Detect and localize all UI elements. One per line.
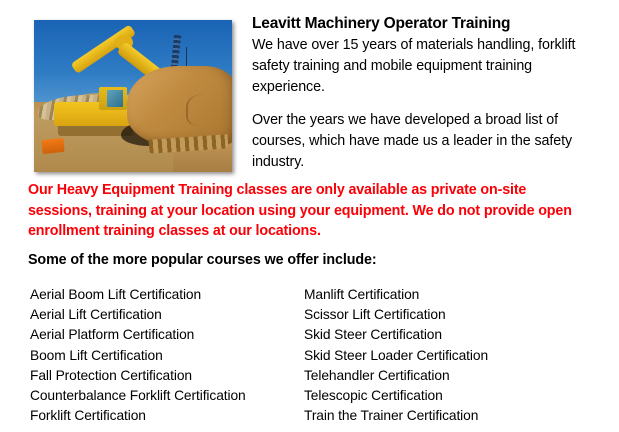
courses-column-right: Manlift Certification Scissor Lift Certi… xyxy=(304,285,604,426)
intro-paragraph-1: We have over 15 years of materials handl… xyxy=(252,35,607,98)
excavator-bucket xyxy=(127,66,232,145)
list-item: Boom Lift Certification xyxy=(30,346,300,366)
list-item: Manlift Certification xyxy=(304,285,604,305)
excavator-photo xyxy=(34,20,232,172)
intro-section: Leavitt Machinery Operator Training We h… xyxy=(0,0,619,178)
list-item: Forklift Certification xyxy=(30,406,300,426)
list-item: Fall Protection Certification xyxy=(30,366,300,386)
list-item: Train the Trainer Certification xyxy=(304,406,604,426)
excavator-cab-window xyxy=(107,90,123,107)
list-item: Skid Steer Loader Certification xyxy=(304,346,604,366)
intro-text-block: Leavitt Machinery Operator Training We h… xyxy=(252,14,607,173)
orange-marker-box xyxy=(41,137,64,153)
list-item: Scissor Lift Certification xyxy=(304,305,604,325)
courses-heading: Some of the more popular courses we offe… xyxy=(28,252,377,268)
list-item: Telehandler Certification xyxy=(304,366,604,386)
list-item: Telescopic Certification xyxy=(304,386,604,406)
list-item: Aerial Lift Certification xyxy=(30,305,300,325)
page-root: Leavitt Machinery Operator Training We h… xyxy=(0,0,619,432)
excavator-photo-canvas xyxy=(34,20,232,172)
courses-column-left: Aerial Boom Lift Certification Aerial Li… xyxy=(30,285,300,426)
bucket-rib xyxy=(186,94,230,126)
list-item: Skid Steer Certification xyxy=(304,325,604,345)
intro-paragraph-2: Over the years we have developed a broad… xyxy=(252,110,607,173)
list-item: Aerial Platform Certification xyxy=(30,325,300,345)
list-item: Aerial Boom Lift Certification xyxy=(30,285,300,305)
private-training-notice: Our Heavy Equipment Training classes are… xyxy=(28,180,593,242)
page-title: Leavitt Machinery Operator Training xyxy=(252,14,607,34)
list-item: Counterbalance Forklift Certification xyxy=(30,386,300,406)
